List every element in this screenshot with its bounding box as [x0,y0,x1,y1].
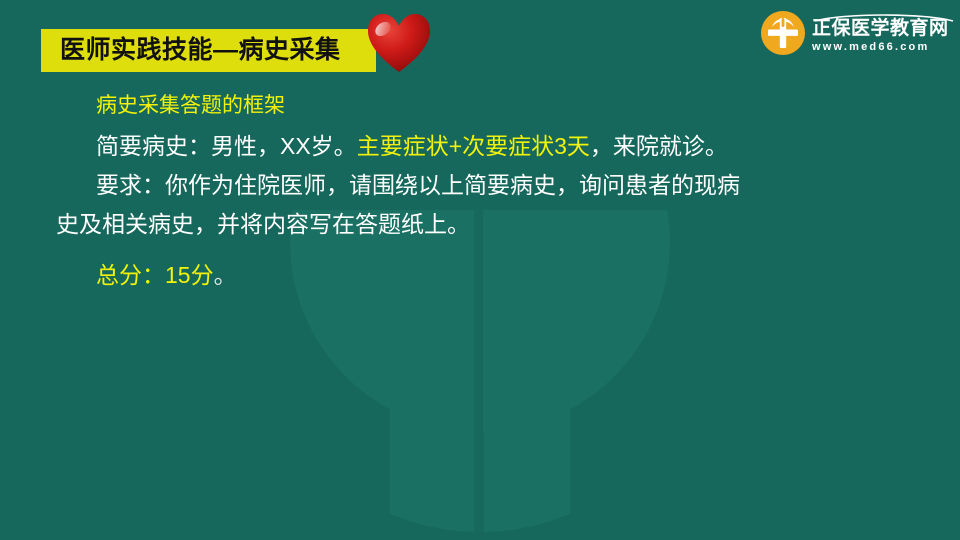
brief-history-paragraph: 简要病史：男性，XX岁。主要症状+次要症状3天，来院就诊。 [56,127,746,166]
page-title: 医师实践技能—病史采集 [60,38,341,63]
logo-name: 正保医学教育网 [812,14,949,38]
content-heading: 病史采集答题的框架 [56,88,746,124]
logo-wordmark: 正保医学教育网 www.med66.com [812,14,949,53]
brief-history-prefix: 简要病史：男性，XX岁。 [96,133,357,159]
cross-emblem-icon [760,10,806,56]
heart-icon [366,12,432,74]
total-score-label: 总分：15分 [96,262,214,288]
title-banner: 医师实践技能—病史采集 [41,29,376,72]
logo-url: www.med66.com [812,42,949,53]
requirement-paragraph: 要求：你作为住院医师，请围绕以上简要病史，询问患者的现病史及相关病史，并将内容写… [56,166,746,244]
slide-canvas: 医师实践技能—病史采集 [0,0,960,540]
total-score-line: 总分：15分。 [56,256,746,295]
total-score-tail: 。 [214,262,237,288]
logo-arc-icon [814,13,954,22]
brief-history-suffix: ，来院就诊。 [590,133,728,159]
brief-history-highlight: 主要症状+次要症状3天 [357,133,590,159]
slide-body: 病史采集答题的框架 简要病史：男性，XX岁。主要症状+次要症状3天，来院就诊。 … [56,88,746,295]
brand-logo: 正保医学教育网 www.med66.com [760,8,952,58]
